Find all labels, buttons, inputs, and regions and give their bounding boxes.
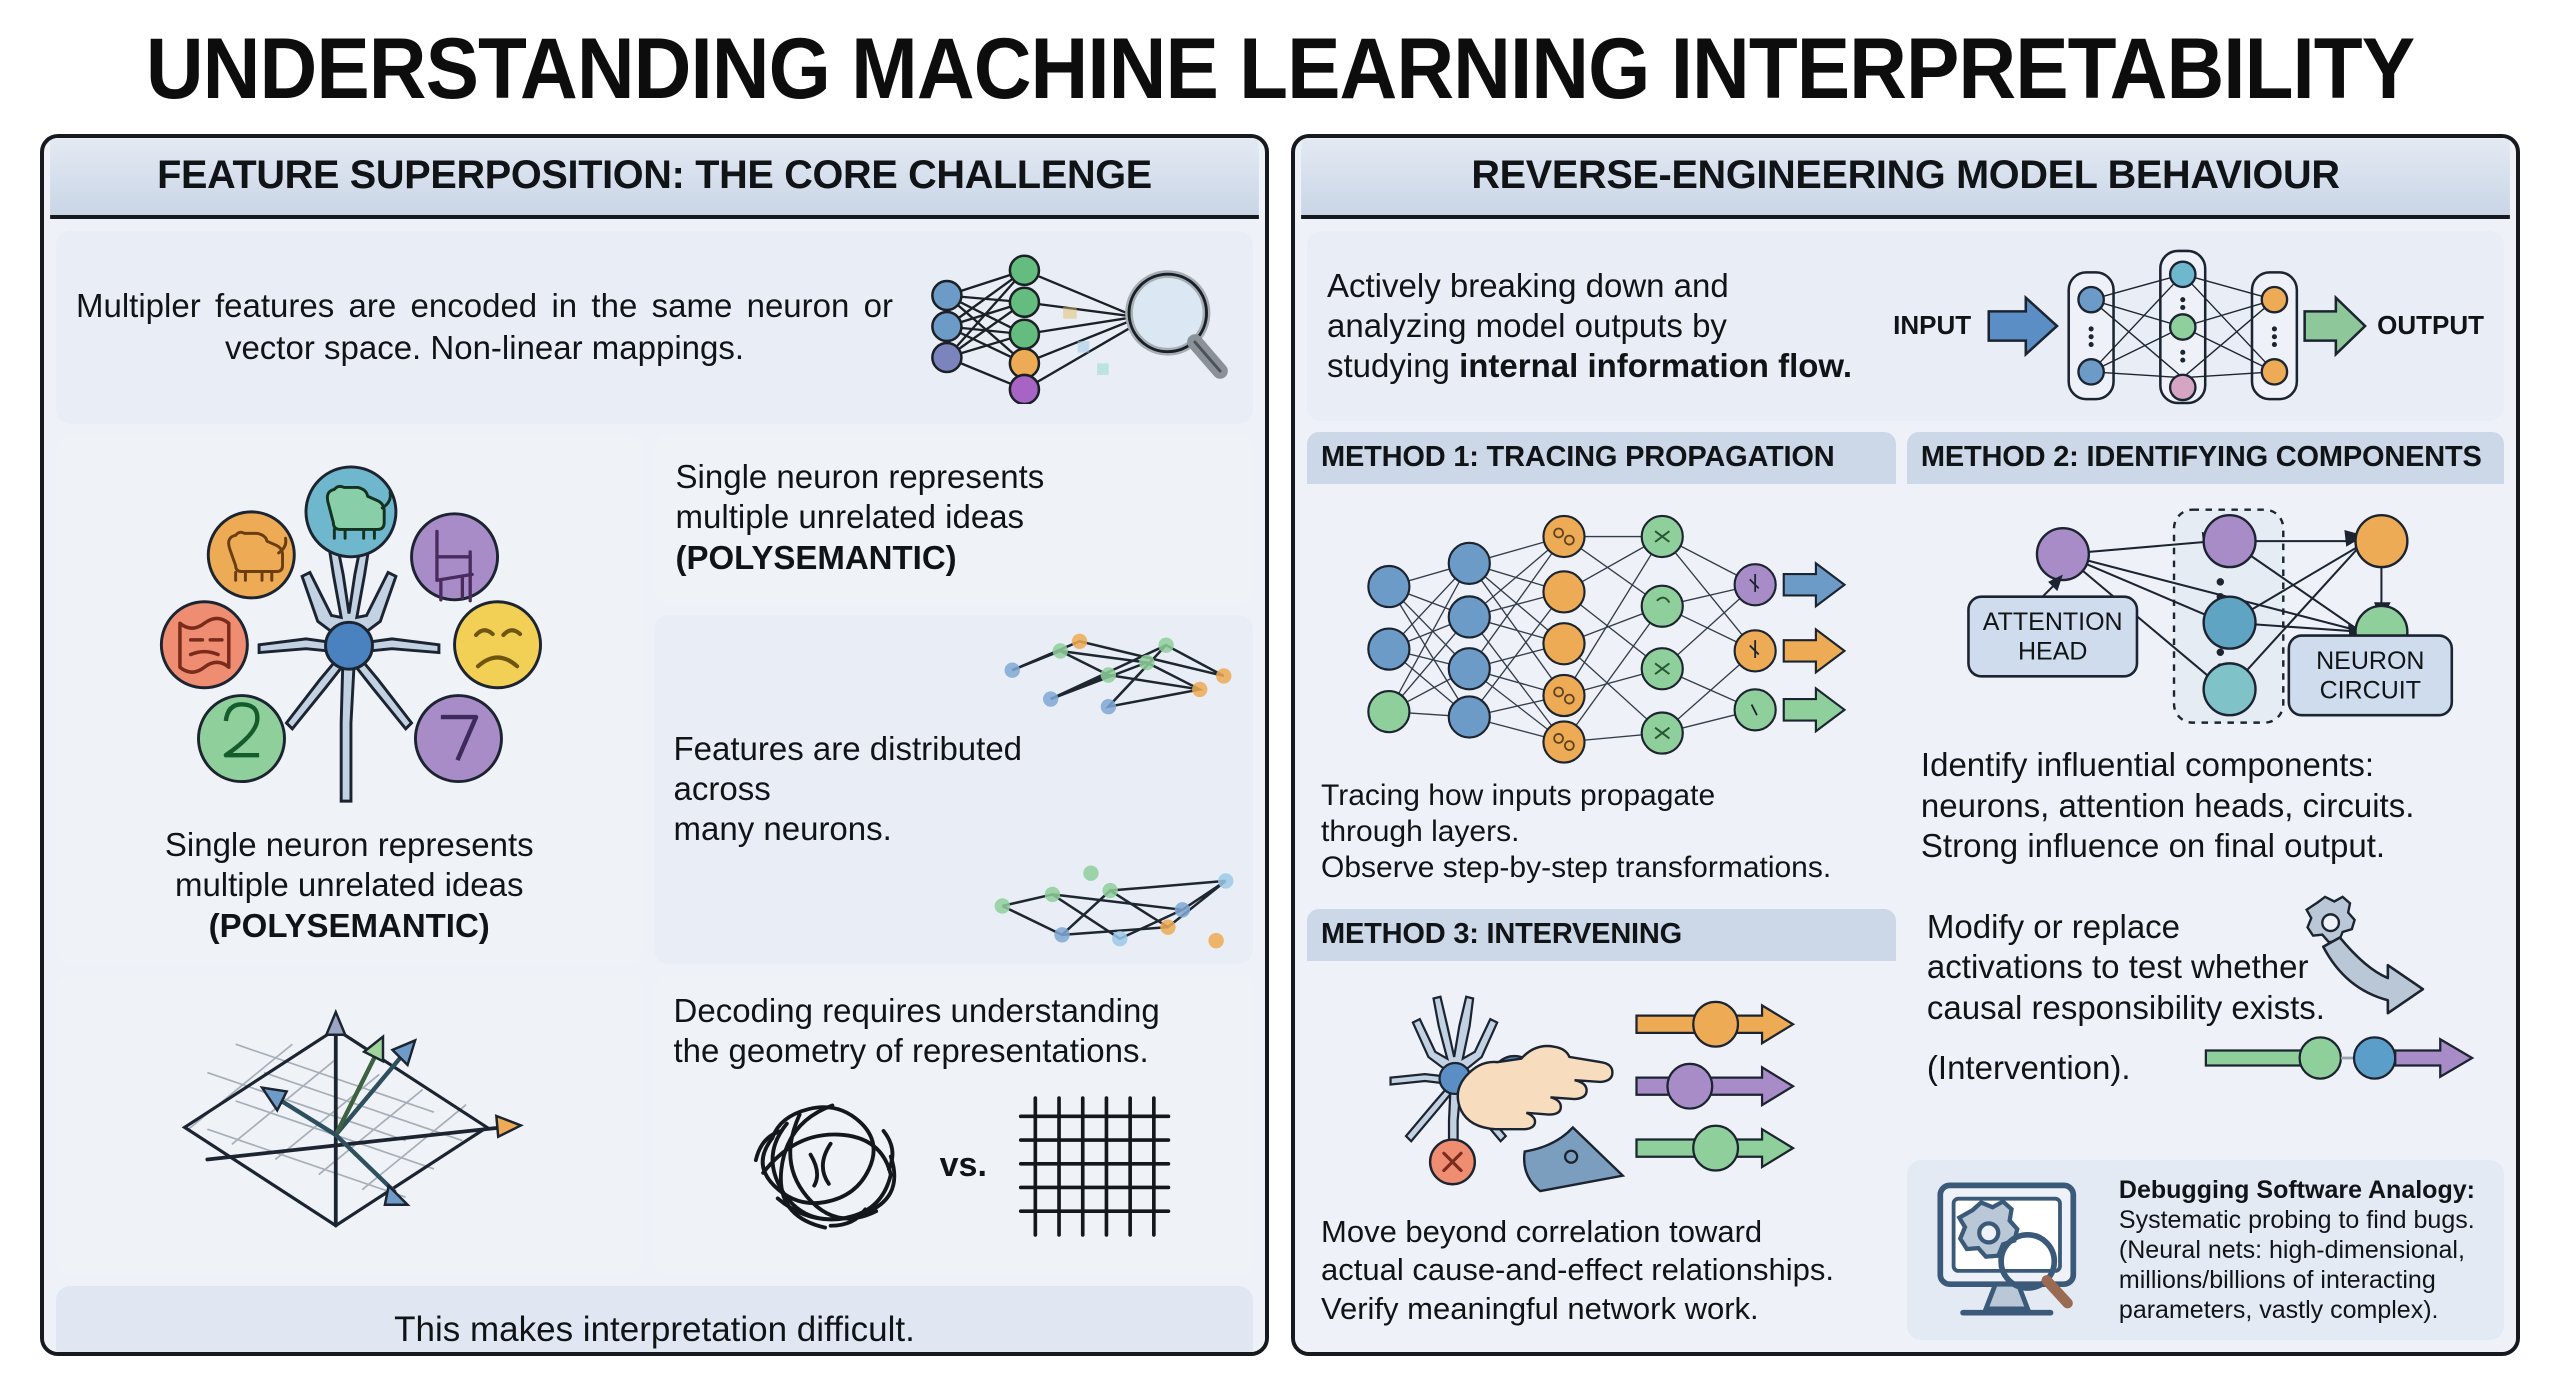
card-decoding-geometry: Decoding requires understanding the geom…: [654, 975, 1253, 1275]
polysemantic-neuron-diagram: [134, 449, 564, 821]
right-intro-card: Actively breaking down and analyzing mod…: [1307, 231, 2504, 421]
left-intro-text: Multipler features are encoded in the sa…: [76, 285, 893, 368]
card-decoding-line1: Decoding requires understanding: [674, 991, 1233, 1031]
right-panel: REVERSE-ENGINEERING MODEL BEHAVIOUR Acti…: [1291, 134, 2520, 1356]
gear-curved-arrow-icon: [2264, 895, 2484, 1015]
debug-line2: (Neural nets: high-dimensional,: [2119, 1235, 2486, 1265]
right-intro-line1: Actively breaking down and: [1327, 266, 1893, 306]
left-panel-header: FEATURE SUPERPOSITION: THE CORE CHALLENG…: [50, 138, 1259, 219]
method-3-card: METHOD 3: INTERVENING: [1307, 909, 1896, 1340]
debug-line4: parameters, vastly complex).: [2119, 1295, 2486, 1325]
polysemantic-neuron-card: Single neuron represents multiple unrela…: [56, 435, 643, 964]
modify-line4: (Intervention).: [1927, 1048, 2131, 1088]
method-1-card: METHOD 1: TRACING PROPAGATION: [1307, 432, 1896, 898]
debug-line3: millions/billions of interacting: [2119, 1265, 2486, 1295]
page-title: UNDERSTANDING MACHINE LEARNING INTERPRET…: [90, 0, 2471, 112]
method-1-caption-line1: Tracing how inputs propagate: [1321, 778, 1882, 814]
method-3-caption-line2: actual cause-and-effect relationships.: [1321, 1251, 1882, 1289]
card-polysemantic-line1: Single neuron represents: [676, 457, 1233, 497]
distributed-network-icon-top: [993, 621, 1243, 729]
attention-head-label-line1: ATTENTION: [1983, 608, 2123, 636]
left-panel: FEATURE SUPERPOSITION: THE CORE CHALLENG…: [40, 134, 1269, 1356]
debug-line1: Systematic probing to find bugs.: [2119, 1205, 2486, 1235]
method-3-caption-line1: Move beyond correlation toward: [1321, 1213, 1882, 1251]
card-polysemantic-text: Single neuron represents multiple unrela…: [654, 435, 1253, 604]
modify-activations-card: Modify or replace activations to test wh…: [1907, 889, 2504, 1149]
vector-space-diagram: [149, 997, 549, 1252]
monitor-gear-magnifier-icon: [1925, 1174, 2105, 1326]
polysemantic-caption-line3: (POLYSEMANTIC): [165, 906, 534, 946]
method-3-caption-line3: Verify meaningful network work.: [1321, 1290, 1882, 1328]
method-2-caption-line1: Identify influential components:: [1921, 745, 2490, 785]
method-1-caption-line3: Observe step-by-step transformations.: [1321, 850, 1882, 886]
attention-head-label-line2: HEAD: [2018, 637, 2087, 665]
right-intro-line2: analyzing model outputs by: [1327, 306, 1893, 346]
method-1-header: METHOD 1: TRACING PROPAGATION: [1307, 432, 1896, 484]
left-footer-text: This makes interpretation difficult.: [394, 1310, 915, 1350]
card-polysemantic-line3: (POLYSEMANTIC): [676, 538, 1233, 578]
method-2-card: METHOD 2: IDENTIFYING COMPONENTS: [1907, 432, 2504, 878]
output-label: OUTPUT: [2377, 310, 2484, 341]
vector-space-card: [56, 975, 643, 1275]
card-distributed-line2: many neurons.: [674, 809, 1066, 849]
right-intro-line3-bold: internal information flow.: [1459, 347, 1852, 384]
infographic-page: UNDERSTANDING MACHINE LEARNING INTERPRET…: [0, 0, 2560, 1396]
method-3-header: METHOD 3: INTERVENING: [1307, 909, 1896, 961]
method-2-caption-line3: Strong influence on final output.: [1921, 826, 2490, 866]
panels-container: FEATURE SUPERPOSITION: THE CORE CHALLENG…: [0, 112, 2560, 1370]
vs-label: vs.: [940, 1145, 987, 1186]
neural-network-magnifier-icon: [903, 249, 1233, 404]
card-distributed-features: Features are distributed across many neu…: [654, 615, 1253, 964]
debug-title: Debugging Software Analogy:: [2119, 1175, 2486, 1205]
distributed-network-icon-bottom: [985, 852, 1245, 958]
right-intro-line3: studying internal information flow.: [1327, 346, 1893, 386]
activation-chain-icon: [2194, 1028, 2484, 1088]
left-panel-body: Multipler features are encoded in the sa…: [44, 219, 1265, 1356]
identifying-components-diagram: ATTENTION HEAD NEURON CIRCUIT: [1921, 492, 2490, 743]
tracing-propagation-diagram: [1321, 492, 1882, 774]
card-polysemantic-line2: multiple unrelated ideas: [676, 497, 1233, 537]
regular-grid-icon: [1013, 1089, 1178, 1244]
tangled-scribble-icon: [729, 1089, 914, 1244]
layered-network-icon: [1979, 242, 2369, 410]
neuron-circuit-label-line2: CIRCUIT: [2320, 676, 2421, 704]
right-intro-line3-plain: studying: [1327, 347, 1459, 384]
method-1-caption-line2: through layers.: [1321, 814, 1882, 850]
method-2-caption-line2: neurons, attention heads, circuits.: [1921, 786, 2490, 826]
debug-analogy-card: Debugging Software Analogy: Systematic p…: [1907, 1160, 2504, 1340]
polysemantic-caption-line1: Single neuron represents: [165, 825, 534, 865]
right-panel-header: REVERSE-ENGINEERING MODEL BEHAVIOUR: [1301, 138, 2510, 219]
card-decoding-line2: the geometry of representations.: [674, 1031, 1233, 1071]
left-panel-footer: This makes interpretation difficult.: [56, 1286, 1253, 1356]
neuron-circuit-label-line1: NEURON: [2316, 647, 2424, 675]
left-intro-card: Multipler features are encoded in the sa…: [56, 231, 1253, 424]
method-2-header: METHOD 2: IDENTIFYING COMPONENTS: [1907, 432, 2504, 484]
card-distributed-line1: Features are distributed across: [674, 729, 1066, 810]
polysemantic-caption-line2: multiple unrelated ideas: [165, 865, 534, 905]
right-panel-body: Actively breaking down and analyzing mod…: [1295, 219, 2516, 1352]
input-label: INPUT: [1893, 310, 1971, 341]
intervening-diagram: [1321, 969, 1882, 1210]
